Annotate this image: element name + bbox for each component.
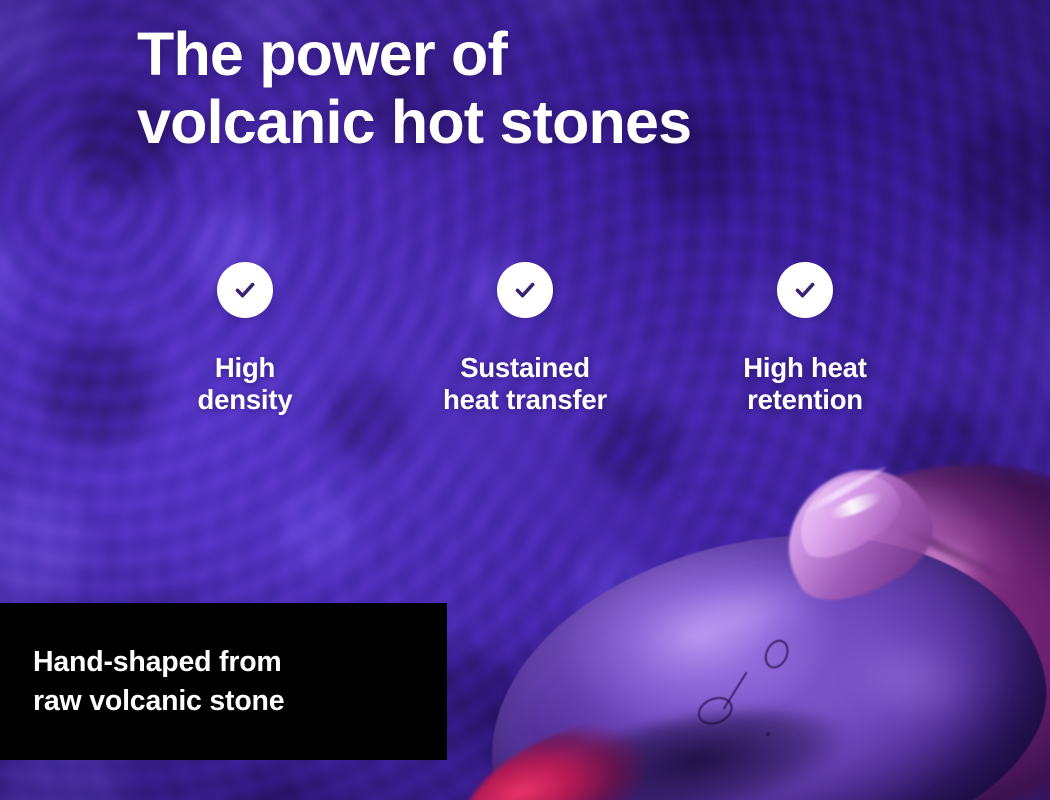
feature-label: Sustained heat transfer <box>443 352 607 416</box>
caption-card: Hand-shaped from raw volcanic stone <box>0 603 447 760</box>
feature-label: High density <box>198 352 293 416</box>
headline-line-2: volcanic hot stones <box>137 88 937 156</box>
check-icon <box>497 262 553 318</box>
check-icon <box>777 262 833 318</box>
headline: The power of volcanic hot stones <box>137 20 937 157</box>
headline-line-1: The power of <box>137 20 507 88</box>
check-icon <box>217 262 273 318</box>
promo-graphic: The power of volcanic hot stones High de… <box>0 0 1050 800</box>
feature-item-high-density: High density <box>105 262 385 416</box>
feature-item-high-heat-retention: High heat retention <box>665 262 945 416</box>
feature-item-sustained-heat-transfer: Sustained heat transfer <box>385 262 665 416</box>
caption-text: Hand-shaped from raw volcanic stone <box>0 643 300 721</box>
feature-list: High density Sustained heat transfer Hig… <box>105 262 945 416</box>
feature-label: High heat retention <box>743 352 866 416</box>
